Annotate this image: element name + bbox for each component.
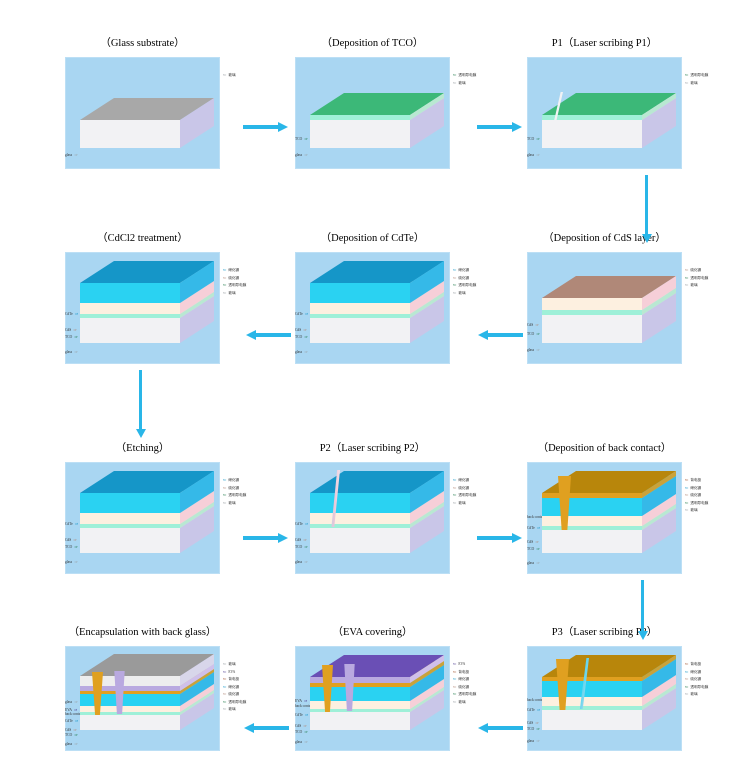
layer-front-face [80, 513, 180, 524]
material-layer-cds [542, 697, 642, 706]
layer-front-face [310, 712, 410, 730]
layer-label: ⇐ 玻璃 [222, 291, 236, 296]
step-illustration: P1P2P3back contact ⇒CdTe ⇒CdS ⇒TCO ⇒glas… [527, 646, 682, 751]
material-layer-cds [80, 303, 180, 314]
material-layer-glass [542, 315, 642, 343]
layer-front-face [542, 310, 642, 315]
layer-front-face [80, 283, 180, 303]
material-layer-cdte [80, 283, 180, 303]
layer-label: ⇐ 透明导电膜 [222, 493, 246, 498]
layer-label-text: 透明导电膜 [690, 501, 708, 505]
layer-front-face [542, 710, 642, 730]
material-layer-glass [80, 318, 180, 343]
layer-label-text: 碲化镉 [458, 478, 469, 482]
layer-label-text: EVA [295, 699, 302, 703]
material-layer-glass [80, 715, 180, 730]
layer-front-face [80, 120, 180, 148]
layer-front-face [80, 493, 180, 513]
layer-front-face [310, 314, 410, 318]
layer-label-text: 玻璃 [458, 81, 465, 85]
layer-label-text: 玻璃 [458, 291, 465, 295]
material-layer-cds [310, 513, 410, 524]
layer-label: ⇐ 碲化镉 [452, 478, 469, 483]
layer-label-text: 硫化镉 [690, 268, 701, 272]
layer-label-text: 玻璃 [228, 73, 235, 77]
layer-front-face [80, 318, 180, 343]
step-illustration: P1P2P3glass ⇒EVA ⇒back contact ⇒CdTe ⇒Cd… [65, 646, 220, 751]
layer-label: ⇐ 玻璃 [222, 707, 236, 712]
layer-label-text: 碲化镉 [458, 677, 469, 681]
layer-label: ⇐ 碲化镉 [222, 268, 239, 273]
layer-label-text: 玻璃 [458, 700, 465, 704]
layer-label: ⇐ 透明导电膜 [684, 276, 708, 281]
layer-front-face [310, 283, 410, 303]
step-caption: （Deposition of CdS layer） [527, 230, 682, 245]
layer-label: ⇐ 碲化镉 [452, 268, 469, 273]
layer-label: ⇐ 硫化镉 [452, 685, 469, 690]
layer-label-text: 硫化镉 [228, 486, 239, 490]
layer-label: ⇐ 硫化镉 [222, 692, 239, 697]
material-layer-tco [310, 524, 410, 528]
material-layer-cds [542, 516, 642, 526]
layer-label: ⇐ 硫化镉 [452, 276, 469, 281]
layer-label: ⇐ 硫化镉 [684, 268, 701, 273]
layer-label-text: 透明导电膜 [690, 685, 708, 689]
arrow-3-4 [642, 175, 652, 243]
layer-label-text: 透明导电膜 [690, 73, 708, 77]
layer-label-text: 透明导电膜 [458, 493, 476, 497]
layer-label-text: 玻璃 [228, 707, 235, 711]
step-caption: （Deposition of CdTe） [295, 230, 450, 245]
material-layer-glass [310, 712, 410, 730]
layer-label: ⇐ EVA [452, 662, 465, 667]
material-layer-cdte [542, 681, 642, 697]
layer-label: ⇐ 背电极 [452, 670, 469, 675]
layer-label: ⇐ 玻璃 [222, 501, 236, 506]
layer-front-face [542, 516, 642, 526]
step-illustration: P1P2CdTe ⇒CdS ⇒TCO ⇒glass ⇒⇐ 碲化镉⇐ 硫化镉⇐ 透… [295, 462, 450, 574]
step-illustration: glass ⇒⇐ 玻璃 [65, 57, 220, 169]
layer-label: ⇐ 玻璃 [452, 81, 466, 86]
arrow-1-2 [243, 122, 288, 132]
layer-label-text: CdTe [295, 713, 303, 717]
layer-front-face [542, 120, 642, 148]
layer-label: ⇐ 玻璃 [452, 501, 466, 506]
layer-label: ⇐ 透明导电膜 [684, 501, 708, 506]
process-step-laser-scribing-p1[interactable]: P1（Laser scribing P1）P1TCO ⇒glass ⇒⇐ 透明导… [527, 35, 682, 169]
layer-front-face [542, 298, 642, 310]
layer-label: ⇐ 碲化镉 [222, 478, 239, 483]
layer-label: ⇐ 碲化镉 [684, 486, 701, 491]
layer-label-text: 玻璃 [690, 692, 697, 696]
layer-label: ⇐ 硫化镉 [684, 493, 701, 498]
material-layer-cdte [80, 493, 180, 513]
process-step-laser-scribing-p2[interactable]: P2（Laser scribing P2）P1P2CdTe ⇒CdS ⇒TCO … [295, 440, 450, 574]
layer-label-text: 背电极 [690, 662, 701, 666]
layer-label-text: 玻璃 [690, 283, 697, 287]
layer-label: ⇐ 透明导电膜 [452, 283, 476, 288]
process-step-deposition-of-cdte[interactable]: （Deposition of CdTe）P1CdTe ⇒CdS ⇒TCO ⇒gl… [295, 230, 450, 364]
layer-label: ⇐ 玻璃 [684, 508, 698, 513]
layer-label-text: 玻璃 [228, 501, 235, 505]
layer-label: ⇐ 硫化镉 [684, 677, 701, 682]
process-step-encapsulation-with-back-glass[interactable]: （Encapsulation with back glass）P1P2P3gla… [65, 624, 220, 751]
step-caption: （EVA covering） [295, 624, 450, 639]
layer-front-face [310, 115, 410, 120]
layer-front-face [542, 315, 642, 343]
material-layer-tco [310, 314, 410, 318]
layer-front-face [310, 524, 410, 528]
arrow-5-6 [246, 330, 291, 340]
step-illustration: P1TCO ⇒glass ⇒⇐ 透明导电膜⇐ 玻璃 [527, 57, 682, 169]
arrow-2-3 [477, 122, 522, 132]
layer-label-text: 玻璃 [228, 291, 235, 295]
layer-label-text: CdTe [527, 708, 535, 712]
material-layer-cds [310, 303, 410, 314]
process-step-etching[interactable]: （Etching）P1CdTe ⇒CdS ⇒TCO ⇒glass ⇒⇐ 碲化镉⇐… [65, 440, 220, 574]
layer-label: ⇐ 碲化镉 [222, 685, 239, 690]
layer-label: ⇐ 背电极 [222, 677, 239, 682]
process-step-deposition-of-back-contact[interactable]: （Deposition of back contact）P1P2back con… [527, 440, 682, 574]
step-caption: （Deposition of back contact） [527, 440, 682, 455]
layer-label-text: 碲化镉 [690, 670, 701, 674]
layer-label: ⇐ 玻璃 [684, 81, 698, 86]
arrow-11-12 [244, 723, 289, 733]
step-illustration: P1CdTe ⇒CdS ⇒TCO ⇒glass ⇒⇐ 碲化镉⇐ 硫化镉⇐ 透明导… [295, 252, 450, 364]
layer-label-text: 玻璃 [690, 508, 697, 512]
layer-front-face [542, 498, 642, 516]
layer-label: ⇐ 硫化镉 [452, 486, 469, 491]
layer-front-face [80, 528, 180, 553]
layer-label: ⇐ 玻璃 [684, 692, 698, 697]
step-illustration: P1CdTe ⇒CdS ⇒TCO ⇒glass ⇒⇐ 碲化镉⇐ 硫化镉⇐ 透明导… [65, 252, 220, 364]
layer-label-text: 玻璃 [690, 81, 697, 85]
layer-label-text: CdTe [295, 312, 303, 316]
process-step-glass-substrate[interactable]: （Glass substrate）glass ⇒⇐ 玻璃 [65, 35, 220, 169]
material-layer-cdte [310, 283, 410, 303]
layer-front-face [542, 697, 642, 706]
material-layer-cds [80, 513, 180, 524]
arrow-8-9 [477, 533, 522, 543]
layer-label-text: 碲化镉 [228, 685, 239, 689]
layer-label: ⇐ 玻璃 [684, 283, 698, 288]
layer-front-face [310, 120, 410, 148]
step-caption: P3（Laser scribing P3） [527, 624, 682, 639]
layer-front-face [80, 715, 180, 730]
layer-label-text: CdTe [527, 526, 535, 530]
arrow-4-5 [478, 330, 523, 340]
layer-label-text: EVA [228, 670, 235, 674]
layer-label-text: 碲化镉 [690, 486, 701, 490]
material-layer-cdte [542, 498, 642, 516]
layer-label: ⇐ 碲化镉 [684, 670, 701, 675]
layer-label: ⇐ 背电极 [684, 478, 701, 483]
material-layer-glass [542, 710, 642, 730]
step-caption: （CdCl2 treatment） [65, 230, 220, 245]
layer-label-text: 玻璃 [458, 501, 465, 505]
layer-label-text: 透明导电膜 [228, 283, 246, 287]
layer-label-text: 玻璃 [228, 662, 235, 666]
layer-front-face [80, 303, 180, 314]
material-layer-glass [310, 120, 410, 148]
layer-label: ⇐ 透明导电膜 [452, 493, 476, 498]
material-layer-glass [310, 318, 410, 343]
layer-label: ⇐ 玻璃 [452, 700, 466, 705]
layer-label: ⇐ 透明导电膜 [684, 73, 708, 78]
layer-label: ⇐ 透明导电膜 [452, 73, 476, 78]
step-illustration: P1CdS ⇒TCO ⇒glass ⇒⇐ 硫化镉⇐ 透明导电膜⇐ 玻璃 [527, 252, 682, 364]
arrow-7-8 [243, 533, 288, 543]
material-layer-tco [80, 524, 180, 528]
layer-front-face [542, 526, 642, 530]
layer-label-text: 碲化镉 [458, 268, 469, 272]
layer-label-text: 硫化镉 [690, 493, 701, 497]
layer-label-text: 碲化镉 [228, 268, 239, 272]
material-layer-tco [310, 115, 410, 120]
layer-label-text: CdTe [65, 719, 73, 723]
layer-label-text: 背电极 [690, 478, 701, 482]
layer-front-face [310, 493, 410, 513]
process-step-deposition-of-cds-layer[interactable]: （Deposition of CdS layer）P1CdS ⇒TCO ⇒gla… [527, 230, 682, 364]
material-layer-glass [80, 528, 180, 553]
layer-label: ⇐ 玻璃 [222, 73, 236, 78]
layer-label-text: 背电极 [458, 670, 469, 674]
layer-label-text: 硫化镉 [458, 685, 469, 689]
material-layer-tco [542, 526, 642, 530]
material-layer-bc [542, 677, 642, 681]
process-step-laser-scribing-p3[interactable]: P3（Laser scribing P3）P1P2P3back contact … [527, 624, 682, 751]
layer-front-face [310, 318, 410, 343]
layer-label: ⇐ 硫化镉 [222, 486, 239, 491]
step-caption: P1（Laser scribing P1） [527, 35, 682, 50]
layer-label: ⇐ 碲化镉 [452, 677, 469, 682]
layer-front-face [542, 681, 642, 697]
layer-label-text: 硫化镉 [690, 677, 701, 681]
material-layer-glass [542, 530, 642, 553]
layer-front-face [80, 314, 180, 318]
step-caption: （Encapsulation with back glass） [65, 624, 220, 639]
layer-label-text: 硫化镉 [458, 276, 469, 280]
material-layer-glass [80, 120, 180, 148]
material-layer-bc [542, 493, 642, 498]
step-illustration: P1P2back contact ⇒CdTe ⇒CdS ⇒TCO ⇒glass … [527, 462, 682, 574]
material-layer-cdte [310, 493, 410, 513]
layer-label-text: 透明导电膜 [690, 276, 708, 280]
layer-front-face [542, 706, 642, 710]
material-layer-tco [80, 314, 180, 318]
layer-front-face [310, 303, 410, 314]
arrow-6-7 [136, 370, 146, 438]
material-layer-cds [542, 298, 642, 310]
step-illustration: P1CdTe ⇒CdS ⇒TCO ⇒glass ⇒⇐ 碲化镉⇐ 硫化镉⇐ 透明导… [65, 462, 220, 574]
layer-label: ⇐ 玻璃 [222, 662, 236, 667]
layer-label-text: 透明导电膜 [228, 700, 246, 704]
layer-front-face [80, 524, 180, 528]
layer-label-text: 透明导电膜 [458, 283, 476, 287]
process-step-deposition-of-tco[interactable]: （Deposition of TCO）TCO ⇒glass ⇒⇐ 透明导电膜⇐ … [295, 35, 450, 169]
layer-label-text: 硫化镉 [458, 486, 469, 490]
layer-label-text: 硫化镉 [228, 276, 239, 280]
layer-label: ⇐ 透明导电膜 [222, 700, 246, 705]
layer-label-text: 背电极 [228, 677, 239, 681]
layer-label-text: CdTe [65, 522, 73, 526]
arrow-9-10 [638, 580, 648, 640]
layer-label-text: 硫化镉 [228, 692, 239, 696]
layer-label: ⇐ EVA [222, 670, 235, 675]
step-illustration: P1P2P3EVA ⇒back contact ⇒CdTe ⇒CdS ⇒TCO … [295, 646, 450, 751]
layer-label: ⇐ 透明导电膜 [222, 283, 246, 288]
layer-label-text: 透明导电膜 [228, 493, 246, 497]
layer-front-face [542, 493, 642, 498]
layer-label: ⇐ 背电极 [684, 662, 701, 667]
layer-label: ⇐ 透明导电膜 [684, 685, 708, 690]
layer-label-text: 透明导电膜 [458, 692, 476, 696]
layer-label-text: CdTe [65, 312, 73, 316]
step-caption: P2（Laser scribing P2） [295, 440, 450, 455]
material-layer-tco [542, 706, 642, 710]
material-layer-glass [310, 528, 410, 553]
step-caption: （Glass substrate） [65, 35, 220, 50]
layer-label-text: EVA [458, 662, 465, 666]
layer-label: ⇐ 透明导电膜 [452, 692, 476, 697]
layer-label-text: CdTe [295, 522, 303, 526]
layer-front-face [310, 513, 410, 524]
layer-label-text: 碲化镉 [228, 478, 239, 482]
layer-front-face [542, 530, 642, 553]
material-layer-glass [542, 120, 642, 148]
layer-label: ⇐ 玻璃 [452, 291, 466, 296]
layer-label: ⇐ 硫化镉 [222, 276, 239, 281]
step-caption: （Etching） [65, 440, 220, 455]
process-step-eva-covering[interactable]: （EVA covering）P1P2P3EVA ⇒back contact ⇒C… [295, 624, 450, 751]
material-layer-tco [542, 310, 642, 315]
step-illustration: TCO ⇒glass ⇒⇐ 透明导电膜⇐ 玻璃 [295, 57, 450, 169]
arrow-10-11 [478, 723, 523, 733]
process-step-cdcl2-treatment[interactable]: （CdCl2 treatment）P1CdTe ⇒CdS ⇒TCO ⇒glass… [65, 230, 220, 364]
step-caption: （Deposition of TCO） [295, 35, 450, 50]
layer-label-text: 透明导电膜 [458, 73, 476, 77]
layer-front-face [542, 677, 642, 681]
layer-front-face [310, 528, 410, 553]
